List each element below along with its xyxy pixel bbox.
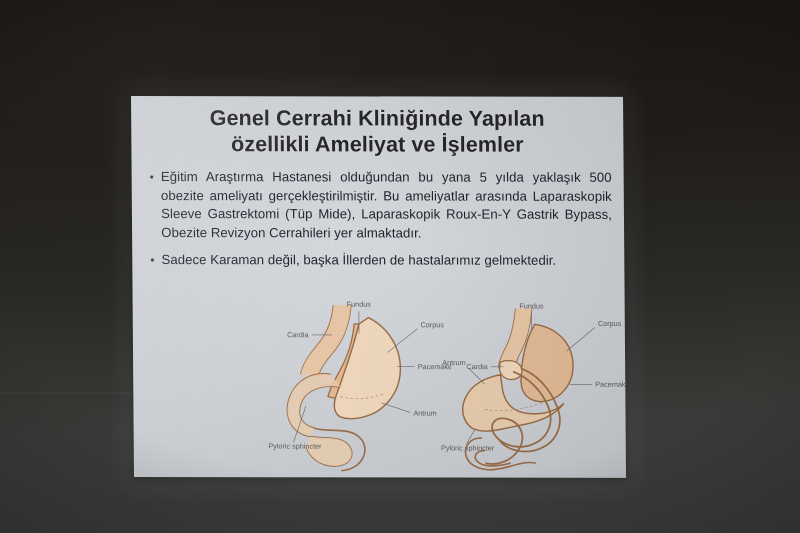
- list-item: • Eğitim Araştırma Hastanesi olduğundan …: [150, 168, 613, 243]
- label-antrum: Antrum: [413, 409, 436, 418]
- label-pyloric-sphincter: Pyloric sphincter: [268, 442, 322, 451]
- bullet-text: Eğitim Araştırma Hastanesi olduğundan bu…: [161, 168, 612, 243]
- label-cardia: Cardia: [287, 330, 309, 339]
- gastric-bypass-illustration: Fundus Cardia Corpus Pacemaker area Antr…: [437, 293, 626, 473]
- label-antrum: Antrum: [442, 358, 465, 367]
- bullet-text: Sadece Karaman değil, başka İllerden de …: [161, 251, 612, 270]
- label-pacemaker-area: Pacemaker area: [595, 380, 626, 389]
- slide-title-line-2: özellikli Ameliyat ve İşlemler: [131, 131, 623, 158]
- label-corpus: Corpus: [598, 319, 622, 328]
- slide-title-line-1: Genel Cerrahi Kliniğinde Yapılan: [210, 106, 545, 131]
- bullet-marker-icon: •: [150, 251, 154, 270]
- photo-scene: Genel Cerrahi Kliniğinde Yapılan özellik…: [0, 0, 800, 533]
- diagram-normal-stomach: Fundus Cardia Corpus Pacemaker area Antr…: [261, 292, 452, 472]
- list-item: • Sadece Karaman değil, başka İllerden d…: [150, 251, 612, 271]
- label-fundus: Fundus: [347, 300, 372, 309]
- diagram-gastric-bypass: Fundus Cardia Corpus Pacemaker area Antr…: [437, 293, 626, 473]
- slide-bullet-list: • Eğitim Araştırma Hastanesi olduğundan …: [150, 168, 613, 280]
- slide-title: Genel Cerrahi Kliniğinde Yapılan özellik…: [131, 105, 623, 158]
- label-pyloric-sphincter: Pyloric sphincter: [441, 443, 495, 452]
- anatomy-figure: Fundus Cardia Corpus Pacemaker area Antr…: [141, 292, 622, 473]
- bullet-marker-icon: •: [150, 168, 154, 187]
- label-cardia: Cardia: [466, 362, 488, 371]
- projected-slide: Genel Cerrahi Kliniğinde Yapılan özellik…: [131, 96, 626, 478]
- slide-surface: Genel Cerrahi Kliniğinde Yapılan özellik…: [131, 96, 626, 478]
- normal-stomach-illustration: Fundus Cardia Corpus Pacemaker area Antr…: [261, 292, 452, 472]
- label-fundus: Fundus: [519, 301, 544, 310]
